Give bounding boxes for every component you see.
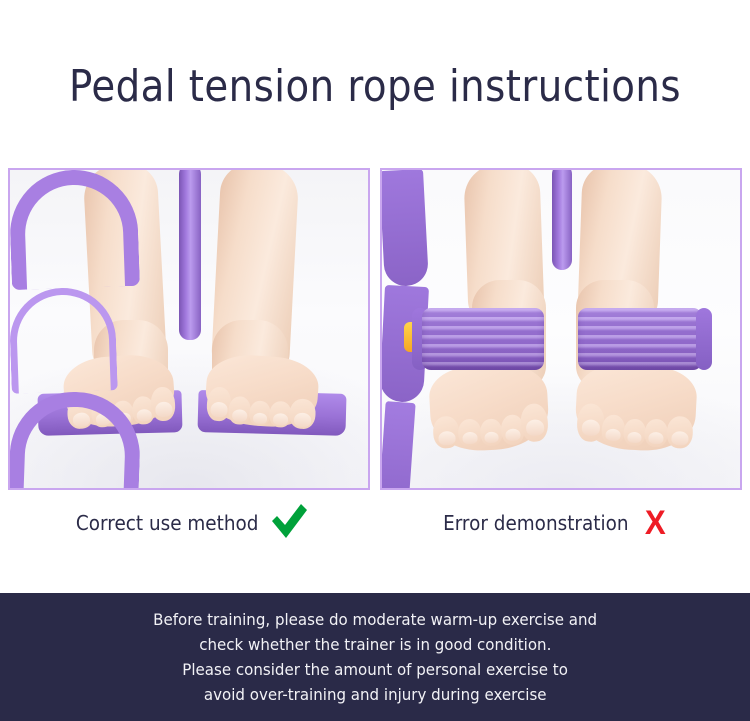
page-title: Pedal tension rope instructions — [45, 60, 705, 114]
toenail — [294, 412, 312, 427]
check-icon — [268, 501, 310, 546]
photo-correct-use — [10, 170, 368, 488]
caption-error-label: Error demonstration — [443, 511, 628, 535]
toe — [666, 416, 694, 449]
toenail — [582, 419, 601, 436]
instruction-panels — [8, 168, 742, 490]
caption-correct-use: Correct use method — [8, 498, 370, 548]
tension-cord — [179, 170, 201, 340]
footer-line: avoid over-training and injury during ex… — [204, 682, 547, 707]
toenail — [155, 401, 173, 417]
caption-correct-label: Correct use method — [76, 511, 258, 535]
toe — [644, 419, 668, 448]
tension-cord — [552, 170, 572, 270]
toe-big — [150, 386, 176, 422]
toenail — [438, 431, 456, 446]
cross-icon: X — [645, 506, 666, 540]
toe — [228, 396, 252, 425]
toe — [480, 418, 503, 446]
toenail — [671, 431, 689, 446]
foam-roller-right — [578, 308, 702, 370]
panel-correct-use — [8, 168, 370, 490]
toenail — [273, 413, 289, 426]
toe-big — [520, 403, 549, 442]
toenail — [232, 409, 248, 422]
toenail — [253, 412, 268, 424]
caption-error-demonstration: Error demonstration X — [370, 498, 732, 548]
toenail — [526, 419, 545, 436]
toe-big — [576, 403, 605, 442]
toenail — [505, 428, 521, 441]
footer-line: Before training, please do moderate warm… — [153, 607, 597, 632]
toenail — [648, 432, 664, 445]
toe — [432, 416, 460, 449]
toenail — [462, 432, 478, 445]
pedal-arm-inner-left — [382, 401, 416, 488]
toenail — [136, 409, 152, 422]
toe — [458, 418, 482, 447]
toenail — [210, 401, 228, 417]
toe — [601, 414, 626, 445]
foot-left — [428, 363, 550, 453]
foam-roller-left — [422, 308, 544, 370]
footer-line: Please consider the amount of personal e… — [182, 657, 568, 682]
footer-notice: Before training, please do moderate warm… — [0, 593, 750, 721]
panel-captions: Correct use method Error demonstration X — [8, 498, 742, 548]
toenail — [605, 428, 621, 441]
toe — [623, 418, 646, 446]
toenail — [627, 432, 642, 444]
toenail — [484, 432, 499, 444]
foot-right — [574, 363, 698, 453]
foot-right — [204, 352, 321, 430]
panel-error-demonstration — [380, 168, 742, 490]
footer-line: check whether the trainer is in good con… — [199, 632, 551, 657]
pedal-arm-left — [382, 170, 429, 287]
photo-error-demonstration — [382, 170, 740, 488]
toe — [249, 400, 272, 426]
roller-cap-right — [696, 308, 712, 370]
